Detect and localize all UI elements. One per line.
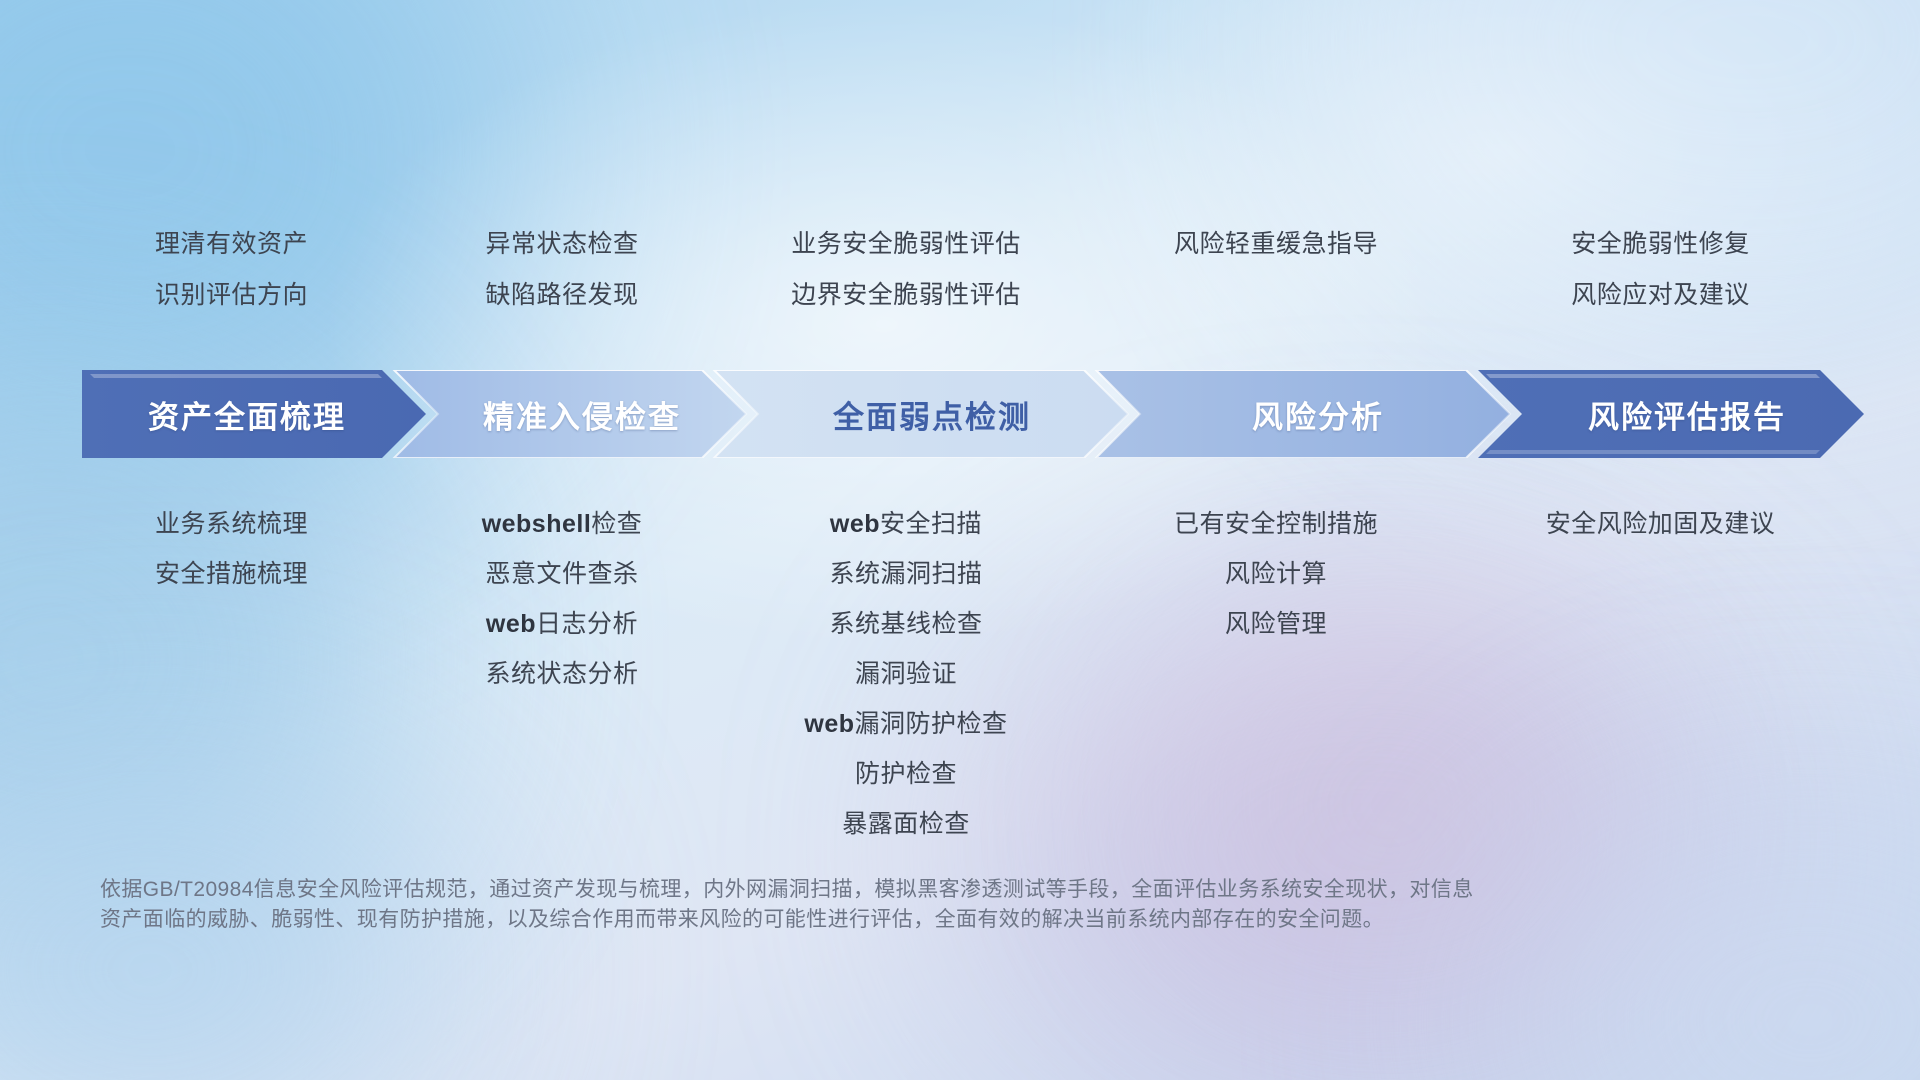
note: 防护检查	[855, 762, 957, 787]
note: 安全脆弱性修复	[1571, 232, 1750, 257]
footer-line: 依据GB/T20984信息安全风险评估规范，通过资产发现与梳理，内外网漏洞扫描，…	[100, 875, 1660, 905]
note: 系统基线检查	[829, 612, 982, 637]
note-emphasis: web	[830, 510, 880, 538]
note: 安全措施梳理	[155, 562, 308, 587]
note: 恶意文件查杀	[485, 562, 638, 587]
note: 业务系统梳理	[155, 512, 308, 537]
top-notes-intrusion-check: 异常状态检查 缺陷路径发现	[403, 232, 721, 334]
note: 已有安全控制措施	[1174, 512, 1378, 537]
note: 异常状态检查	[485, 232, 638, 257]
top-notes-risk-analysis: 风险轻重缓急指导	[1091, 232, 1461, 334]
bottom-notes-intrusion-check: webshell检查恶意文件查杀web日志分析系统状态分析	[403, 512, 721, 862]
top-notes-risk-report: 安全脆弱性修复 风险应对及建议	[1461, 232, 1860, 334]
note: web漏洞防护检查	[804, 712, 1007, 737]
note-emphasis: web	[486, 610, 536, 638]
note: 风险管理	[1225, 612, 1327, 637]
note: 风险应对及建议	[1571, 283, 1750, 308]
bottom-notes-asset-inventory: 业务系统梳理安全措施梳理	[60, 512, 403, 862]
top-notes-row: 理清有效资产 识别评估方向 异常状态检查 缺陷路径发现 业务安全脆弱性评估 边界…	[60, 232, 1860, 334]
note: 风险轻重缓急指导	[1174, 232, 1378, 257]
note: 系统漏洞扫描	[829, 562, 982, 587]
bottom-notes-weakness-detection: web安全扫描系统漏洞扫描系统基线检查漏洞验证web漏洞防护检查防护检查暴露面检…	[721, 512, 1091, 862]
note: 风险计算	[1225, 562, 1327, 587]
note: web日志分析	[486, 612, 638, 637]
note: web安全扫描	[830, 512, 982, 537]
note: 暴露面检查	[842, 812, 970, 837]
note: 业务安全脆弱性评估	[791, 232, 1021, 257]
note: 边界安全脆弱性评估	[791, 283, 1021, 308]
top-notes-weakness-detection: 业务安全脆弱性评估 边界安全脆弱性评估	[721, 232, 1091, 334]
note: 漏洞验证	[855, 662, 957, 687]
note: 安全风险加固及建议	[1546, 512, 1776, 537]
stage-chevron-band: 资产全面梳理 精准入侵检查 全面弱点检测 风险分析 风险评估报告	[82, 370, 1864, 458]
note: 理清有效资产	[155, 232, 308, 257]
note: webshell检查	[482, 512, 643, 537]
note-emphasis: webshell	[482, 510, 592, 538]
top-notes-asset-inventory: 理清有效资产 识别评估方向	[60, 232, 403, 334]
bottom-notes-risk-analysis: 已有安全控制措施风险计算风险管理	[1091, 512, 1461, 862]
footer-line: 资产面临的威胁、脆弱性、现有防护措施，以及综合作用而带来风险的可能性进行评估，全…	[100, 905, 1660, 935]
note: 缺陷路径发现	[485, 283, 638, 308]
note-emphasis: web	[804, 710, 854, 738]
note: 识别评估方向	[155, 283, 308, 308]
bottom-notes-row: 业务系统梳理安全措施梳理 webshell检查恶意文件查杀web日志分析系统状态…	[60, 512, 1860, 862]
footer-description: 依据GB/T20984信息安全风险评估规范，通过资产发现与梳理，内外网漏洞扫描，…	[100, 875, 1660, 936]
bottom-notes-risk-report: 安全风险加固及建议	[1461, 512, 1860, 862]
note: 系统状态分析	[485, 662, 638, 687]
process-diagram: 理清有效资产 识别评估方向 异常状态检查 缺陷路径发现 业务安全脆弱性评估 边界…	[0, 0, 1920, 1080]
